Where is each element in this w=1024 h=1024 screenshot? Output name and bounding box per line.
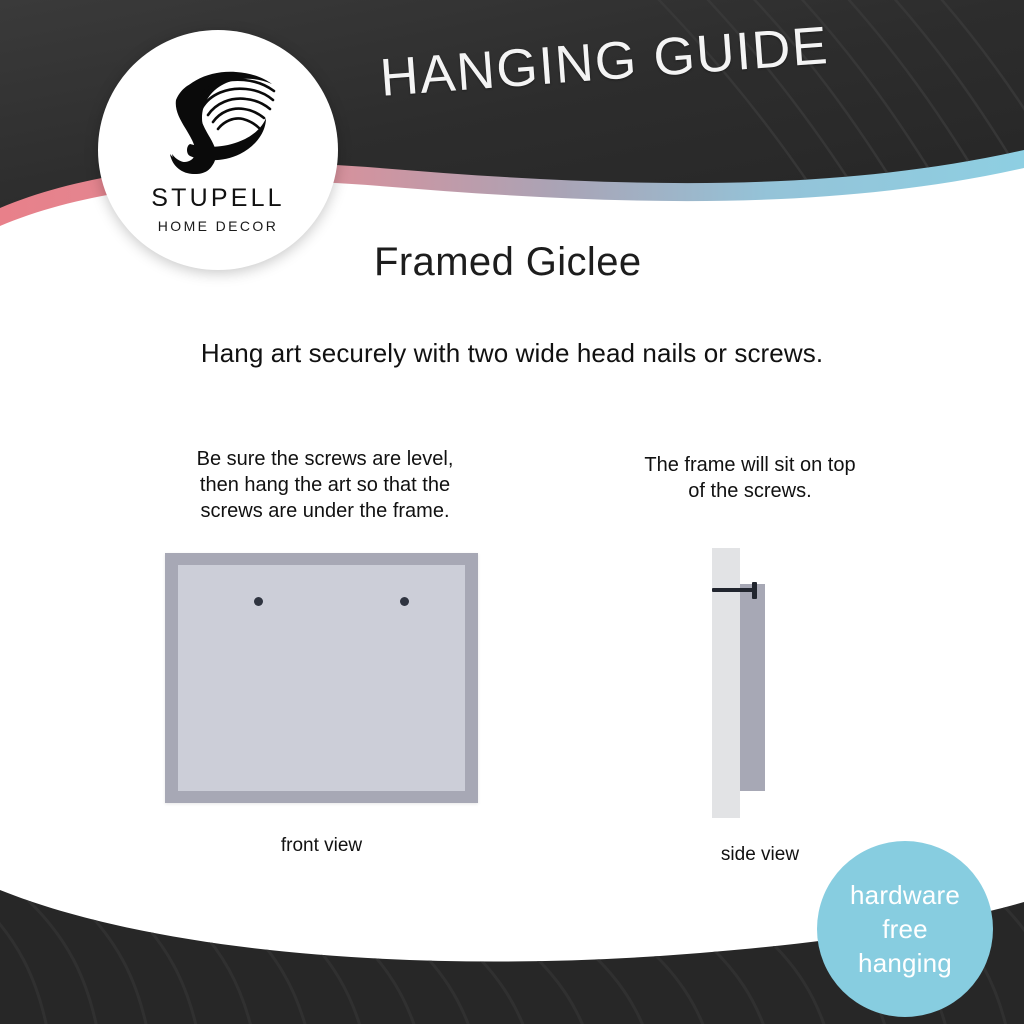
- side-view-diagram: [705, 548, 815, 823]
- hardware-free-badge: hardware free hanging: [817, 841, 993, 1017]
- side-caption-line-1: The frame will sit on top: [585, 452, 915, 478]
- screw-dot-left: [254, 597, 263, 606]
- stupell-s-swoosh-icon: [152, 60, 284, 180]
- front-view-label: front view: [165, 835, 478, 857]
- screw-dot-right: [400, 597, 409, 606]
- product-name: Framed Giclee: [374, 240, 642, 285]
- badge-line-3: hanging: [858, 946, 952, 980]
- nail-head-icon: [752, 582, 757, 599]
- front-view-mat: [178, 565, 465, 791]
- front-caption-line-2: then hang the art so that the: [150, 472, 500, 498]
- brand-tagline: HOME DECOR: [158, 218, 278, 234]
- side-view-label: side view: [660, 844, 860, 866]
- badge-line-2: free: [882, 912, 928, 946]
- hanging-guide-page: STUPELL HOME DECOR HANGING GUIDE Framed …: [0, 0, 1024, 1024]
- page-title: HANGING GUIDE: [378, 15, 831, 109]
- main-instruction: Hang art securely with two wide head nai…: [0, 338, 1024, 369]
- front-view-diagram: [165, 553, 478, 803]
- side-caption-line-2: of the screws.: [585, 478, 915, 504]
- front-view-caption: Be sure the screws are level, then hang …: [150, 446, 500, 524]
- front-caption-line-1: Be sure the screws are level,: [150, 446, 500, 472]
- nail-icon: [712, 588, 754, 592]
- brand-name: STUPELL: [151, 184, 285, 213]
- side-view-frame: [740, 584, 765, 791]
- brand-logo-badge: STUPELL HOME DECOR: [98, 30, 338, 270]
- badge-line-1: hardware: [850, 878, 960, 912]
- front-caption-line-3: screws are under the frame.: [150, 498, 500, 524]
- side-view-caption: The frame will sit on top of the screws.: [585, 452, 915, 504]
